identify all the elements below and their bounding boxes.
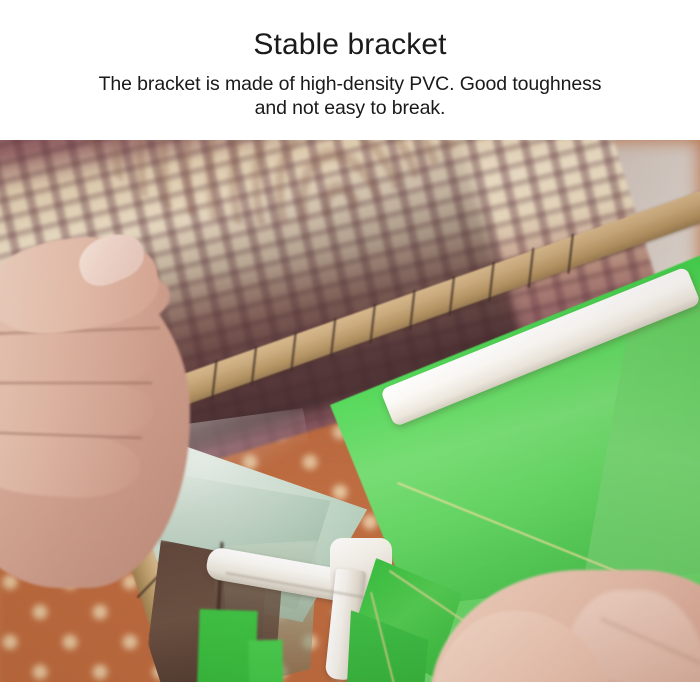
product-photo	[0, 140, 700, 682]
left-hand-crease-2	[0, 382, 152, 384]
page-subtitle: The bracket is made of high-density PVC.…	[0, 61, 700, 121]
green-fabric-leg-strip-2	[248, 640, 285, 682]
page-title: Stable bracket	[0, 0, 700, 61]
subtitle-line-2: and not easy to break.	[0, 96, 700, 120]
product-feature-card: Stable bracket The bracket is made of hi…	[0, 0, 700, 700]
header-text-block: Stable bracket The bracket is made of hi…	[0, 0, 700, 140]
subtitle-line-1: The bracket is made of high-density PVC.…	[0, 72, 700, 96]
